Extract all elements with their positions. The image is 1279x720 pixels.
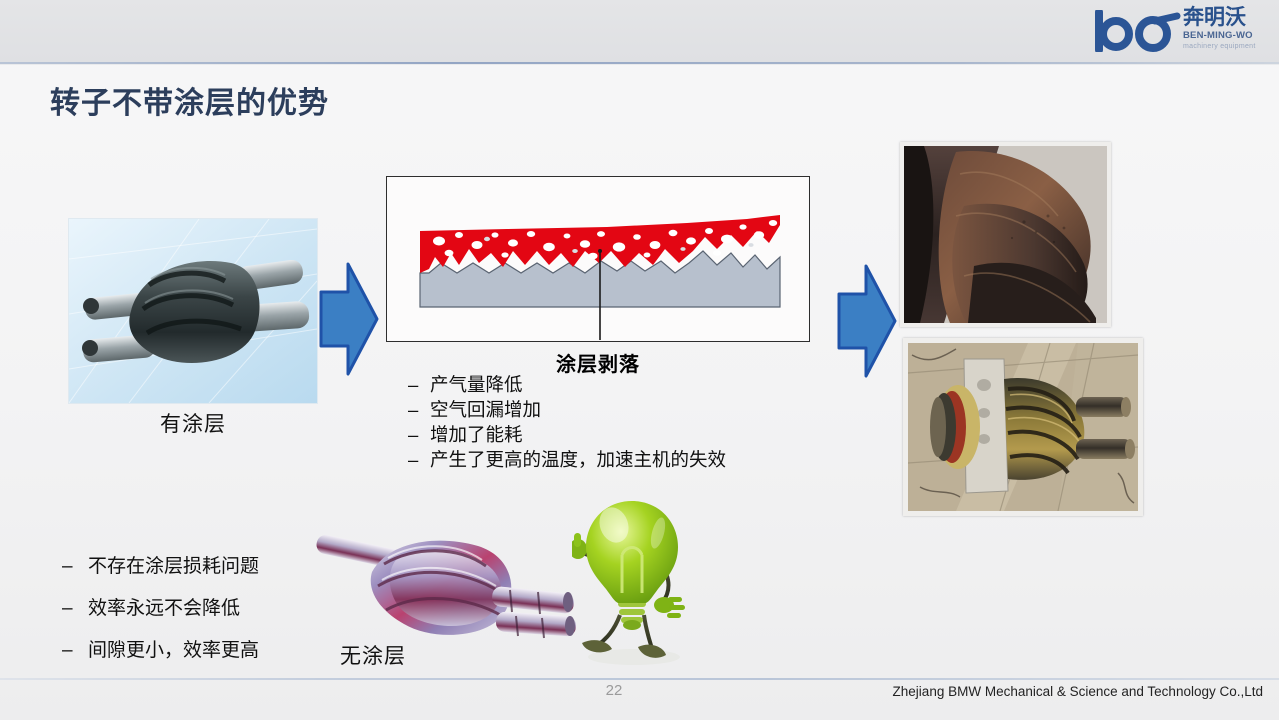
footer-divider [0,678,1279,680]
arrow-right-icon-2 [836,262,898,380]
list-item: – 产生了更高的温度，加速主机的失效 [408,447,928,472]
list-item-label: 不存在涂层损耗问题 [88,546,259,588]
coating-problem-list: – 产气量降低 – 空气回漏增加 – 增加了能耗 – 产生了更高的温度，加速主机… [408,372,928,472]
failed-compressor-rotor-photo [903,338,1143,516]
bullet-dash: – [62,546,88,588]
bullet-dash: – [408,447,430,472]
header-band [0,0,1279,62]
list-item-label: 空气回漏增加 [430,397,541,422]
arrow-right-icon-1 [318,260,380,378]
list-item-label: 增加了能耗 [430,422,523,447]
list-item-label: 产气量降低 [430,372,523,397]
bo-lettermark-icon [1095,10,1181,52]
bullet-dash: – [62,630,88,672]
list-item-label: 间隙更小，效率更高 [88,630,259,672]
green-lightbulb-thumbs-up-mascot-icon [572,497,692,672]
logo-tagline: machinery equipment [1183,42,1263,52]
bullet-dash: – [408,372,430,397]
bullet-dash: – [62,588,88,630]
page-number: 22 [594,682,634,699]
header-divider-soft [0,64,1279,65]
logo-wordmark: 奔明沃 BEN-MING-WO machinery equipment [1183,6,1263,52]
slide: 奔明沃 BEN-MING-WO machinery equipment 转子不带… [0,0,1279,720]
footer-company-name: Zhejiang BMW Mechanical & Science and Te… [893,684,1263,699]
page-title: 转子不带涂层的优势 [50,78,329,122]
list-item: – 增加了能耗 [408,422,928,447]
bullet-dash: – [408,397,430,422]
list-item: – 空气回漏增加 [408,397,928,422]
list-item-label: 效率永远不会降低 [88,588,240,630]
coated-rotor-caption: 有涂层 [68,408,318,438]
logo-english-name: BEN-MING-WO [1183,30,1263,42]
logo-chinese-name: 奔明沃 [1183,6,1263,30]
worn-rotor-closeup-photo [900,142,1111,327]
bullet-dash: – [408,422,430,447]
company-logo: 奔明沃 BEN-MING-WO machinery equipment [1093,4,1263,60]
coated-rotor-photo [68,218,318,404]
list-item-label: 产生了更高的温度，加速主机的失效 [430,447,726,472]
uncoated-rotor-caption: 无涂层 [340,640,540,670]
coating-cross-section-diagram [386,176,810,342]
uncoated-rotor-photo [310,520,580,650]
